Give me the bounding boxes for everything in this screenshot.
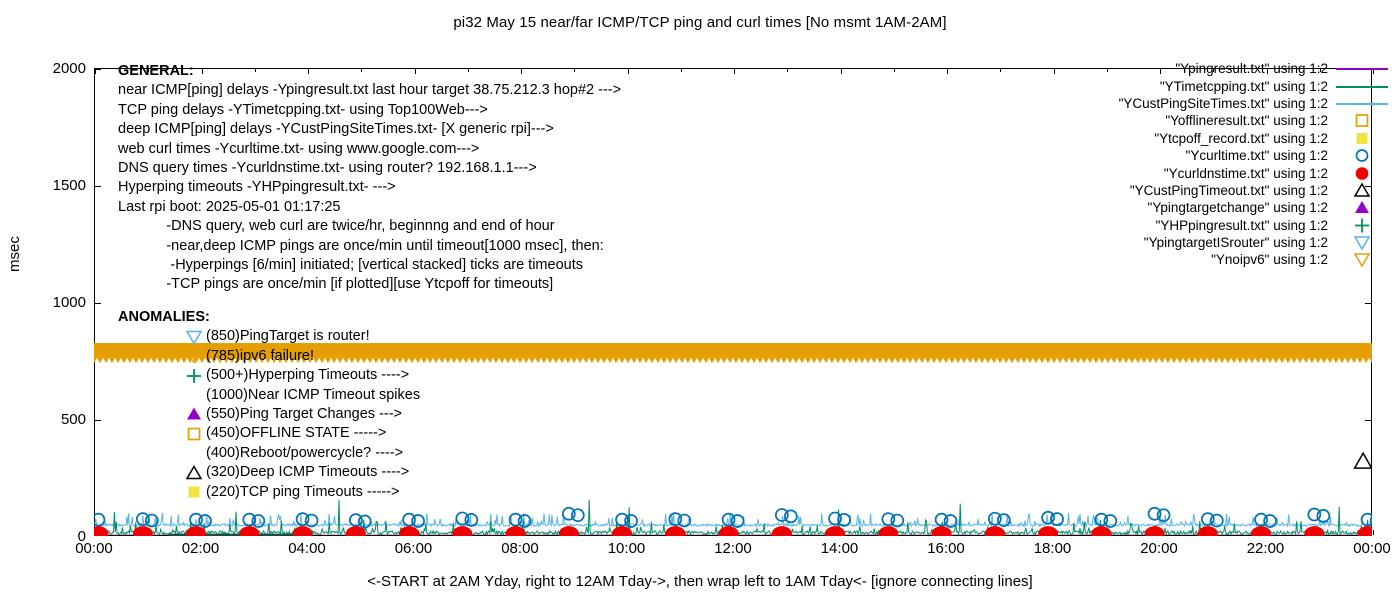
legend-key-triangle-down-open-icon bbox=[1332, 234, 1392, 251]
anomaly-row: (450)OFFLINE STATE -----> bbox=[118, 424, 420, 443]
general-heading: GENERAL: bbox=[118, 62, 621, 81]
anomaly-row: (400)Reboot/powercycle? ----> bbox=[118, 444, 420, 463]
legend-key-triangle-up-open-icon bbox=[1332, 182, 1392, 199]
legend-entry[interactable]: "Ypingresult.txt" using 1:2 bbox=[1000, 60, 1392, 77]
x-tick-label: 22:00 bbox=[1226, 540, 1306, 557]
legend: "Ypingresult.txt" using 1:2"YTimetcpping… bbox=[1000, 60, 1392, 269]
legend-key-square-open-icon bbox=[1332, 112, 1392, 129]
general-line: -near,deep ICMP pings are once/min until… bbox=[118, 237, 621, 256]
legend-label: "Ypingresult.txt" using 1:2 bbox=[1175, 61, 1328, 76]
legend-entry[interactable]: "Ycurltime.txt" using 1:2 bbox=[1000, 147, 1392, 164]
y-tick-label: 1500 bbox=[0, 177, 86, 194]
x-tick-label: 10:00 bbox=[587, 540, 667, 557]
series-ycustpingtimeout bbox=[1355, 453, 1372, 468]
x-tick-label: 06:00 bbox=[374, 540, 454, 557]
legend-key-line-icon bbox=[1332, 78, 1392, 95]
general-line: DNS query times -Ycurldnstime.txt- using… bbox=[118, 159, 621, 178]
anomaly-label: (400)Reboot/powercycle? ----> bbox=[206, 445, 403, 461]
legend-label: "Ynoipv6" using 1:2 bbox=[1211, 252, 1328, 267]
general-line: TCP ping delays -YTimetcpping.txt- using… bbox=[118, 101, 621, 120]
legend-entry[interactable]: "YpingtargetISrouter" using 1:2 bbox=[1000, 234, 1392, 251]
legend-entry[interactable]: "YCustPingTimeout.txt" using 1:2 bbox=[1000, 182, 1392, 199]
x-axis-caption: <-START at 2AM Yday, right to 12AM Tday-… bbox=[0, 573, 1400, 590]
y-tick-label: 2000 bbox=[0, 60, 86, 77]
legend-label: "Ycurltime.txt" using 1:2 bbox=[1186, 148, 1328, 163]
legend-key-circle-fill-icon bbox=[1332, 165, 1392, 182]
x-tick-label: 00:00 bbox=[54, 540, 134, 557]
anomalies-notes: ANOMALIES: (850)PingTarget is router!(78… bbox=[118, 308, 420, 502]
legend-label: "YpingtargetISrouter" using 1:2 bbox=[1144, 235, 1328, 250]
legend-key-plus-icon bbox=[1332, 217, 1392, 234]
y-axis-title: msec bbox=[6, 236, 23, 272]
anomaly-label: (450)OFFLINE STATE -----> bbox=[206, 425, 386, 441]
general-line: near ICMP[ping] delays -Ypingresult.txt … bbox=[118, 81, 621, 100]
anomalies-heading: ANOMALIES: bbox=[118, 308, 420, 327]
legend-key-square-fill-icon bbox=[1332, 130, 1392, 147]
x-tick-label: 16:00 bbox=[906, 540, 986, 557]
general-line: -Hyperpings [6/min] initiated; [vertical… bbox=[118, 256, 621, 275]
legend-entry[interactable]: "YHPpingresult.txt" using 1:2 bbox=[1000, 217, 1392, 234]
anomaly-label: (550)Ping Target Changes ---> bbox=[206, 406, 402, 422]
legend-label: "Yofflineresult.txt" using 1:2 bbox=[1165, 113, 1328, 128]
anomaly-label: (220)TCP ping Timeouts -----> bbox=[206, 484, 400, 500]
y-tick-label: 500 bbox=[0, 411, 86, 428]
anomaly-row: (1000)Near ICMP Timeout spikes bbox=[118, 386, 420, 405]
legend-label: "Ypingtargetchange" using 1:2 bbox=[1148, 200, 1328, 215]
legend-label: "Ycurldnstime.txt" using 1:2 bbox=[1164, 166, 1328, 181]
anomaly-label: (785)ipv6 failure! bbox=[206, 348, 314, 364]
anomaly-row: (220)TCP ping Timeouts -----> bbox=[118, 483, 420, 502]
legend-key-circle-open-icon bbox=[1332, 147, 1392, 164]
x-tick-label: 20:00 bbox=[1119, 540, 1199, 557]
legend-entry[interactable]: "Ytcpoff_record.txt" using 1:2 bbox=[1000, 130, 1392, 147]
chart-page: pi32 May 15 near/far ICMP/TCP ping and c… bbox=[0, 0, 1400, 600]
legend-key-triangle-down-open-icon bbox=[1332, 251, 1392, 268]
general-line: Hyperping timeouts -YHPpingresult.txt- -… bbox=[118, 178, 621, 197]
x-tick-label: 12:00 bbox=[693, 540, 773, 557]
legend-entry[interactable]: "YTimetcpping.txt" using 1:2 bbox=[1000, 77, 1392, 94]
general-line: deep ICMP[ping] delays -YCustPingSiteTim… bbox=[118, 120, 621, 139]
general-line: -DNS query, web curl are twice/hr, begin… bbox=[118, 217, 621, 236]
x-tick-label: 14:00 bbox=[800, 540, 880, 557]
anomaly-row: (850)PingTarget is router! bbox=[118, 327, 420, 346]
x-tick-label: 00:00 bbox=[1332, 540, 1400, 557]
anomaly-row: (320)Deep ICMP Timeouts ----> bbox=[118, 463, 420, 482]
x-tick-label: 02:00 bbox=[161, 540, 241, 557]
anomaly-label: (1000)Near ICMP Timeout spikes bbox=[206, 387, 420, 403]
anomaly-row: (785)ipv6 failure! bbox=[118, 347, 420, 366]
legend-label: "YCustPingSiteTimes.txt" using 1:2 bbox=[1119, 96, 1328, 111]
legend-label: "YTimetcpping.txt" using 1:2 bbox=[1160, 79, 1328, 94]
legend-label: "Ytcpoff_record.txt" using 1:2 bbox=[1154, 131, 1328, 146]
anomaly-label: (850)PingTarget is router! bbox=[206, 328, 370, 344]
anomaly-row: (500+)Hyperping Timeouts ----> bbox=[118, 366, 420, 385]
general-line: Last rpi boot: 2025-05-01 01:17:25 bbox=[118, 198, 621, 217]
legend-key-triangle-up-fill-icon bbox=[1332, 199, 1392, 216]
anomaly-row: (550)Ping Target Changes ---> bbox=[118, 405, 420, 424]
legend-entry[interactable]: "YCustPingSiteTimes.txt" using 1:2 bbox=[1000, 95, 1392, 112]
x-tick-label: 18:00 bbox=[1013, 540, 1093, 557]
legend-entry[interactable]: "Ypingtargetchange" using 1:2 bbox=[1000, 199, 1392, 216]
legend-key-line-icon bbox=[1332, 95, 1392, 112]
anomaly-label: (320)Deep ICMP Timeouts ----> bbox=[206, 464, 409, 480]
page-title: pi32 May 15 near/far ICMP/TCP ping and c… bbox=[0, 14, 1400, 31]
anomaly-label: (500+)Hyperping Timeouts ----> bbox=[206, 367, 409, 383]
general-notes: GENERAL: near ICMP[ping] delays -Ypingre… bbox=[118, 62, 621, 295]
legend-entry[interactable]: "Ycurldnstime.txt" using 1:2 bbox=[1000, 164, 1392, 181]
legend-entry[interactable]: "Yofflineresult.txt" using 1:2 bbox=[1000, 112, 1392, 129]
x-tick bbox=[1373, 530, 1374, 535]
y-tick-label: 1000 bbox=[0, 294, 86, 311]
legend-label: "YHPpingresult.txt" using 1:2 bbox=[1156, 218, 1328, 233]
x-tick-label: 08:00 bbox=[480, 540, 560, 557]
legend-label: "YCustPingTimeout.txt" using 1:2 bbox=[1130, 183, 1328, 198]
legend-key-line-icon bbox=[1332, 60, 1392, 77]
general-line: -TCP pings are once/min [if plotted][use… bbox=[118, 275, 621, 294]
legend-entry[interactable]: "Ynoipv6" using 1:2 bbox=[1000, 251, 1392, 268]
x-tick-label: 04:00 bbox=[267, 540, 347, 557]
general-line: web curl times -Ycurltime.txt- using www… bbox=[118, 140, 621, 159]
